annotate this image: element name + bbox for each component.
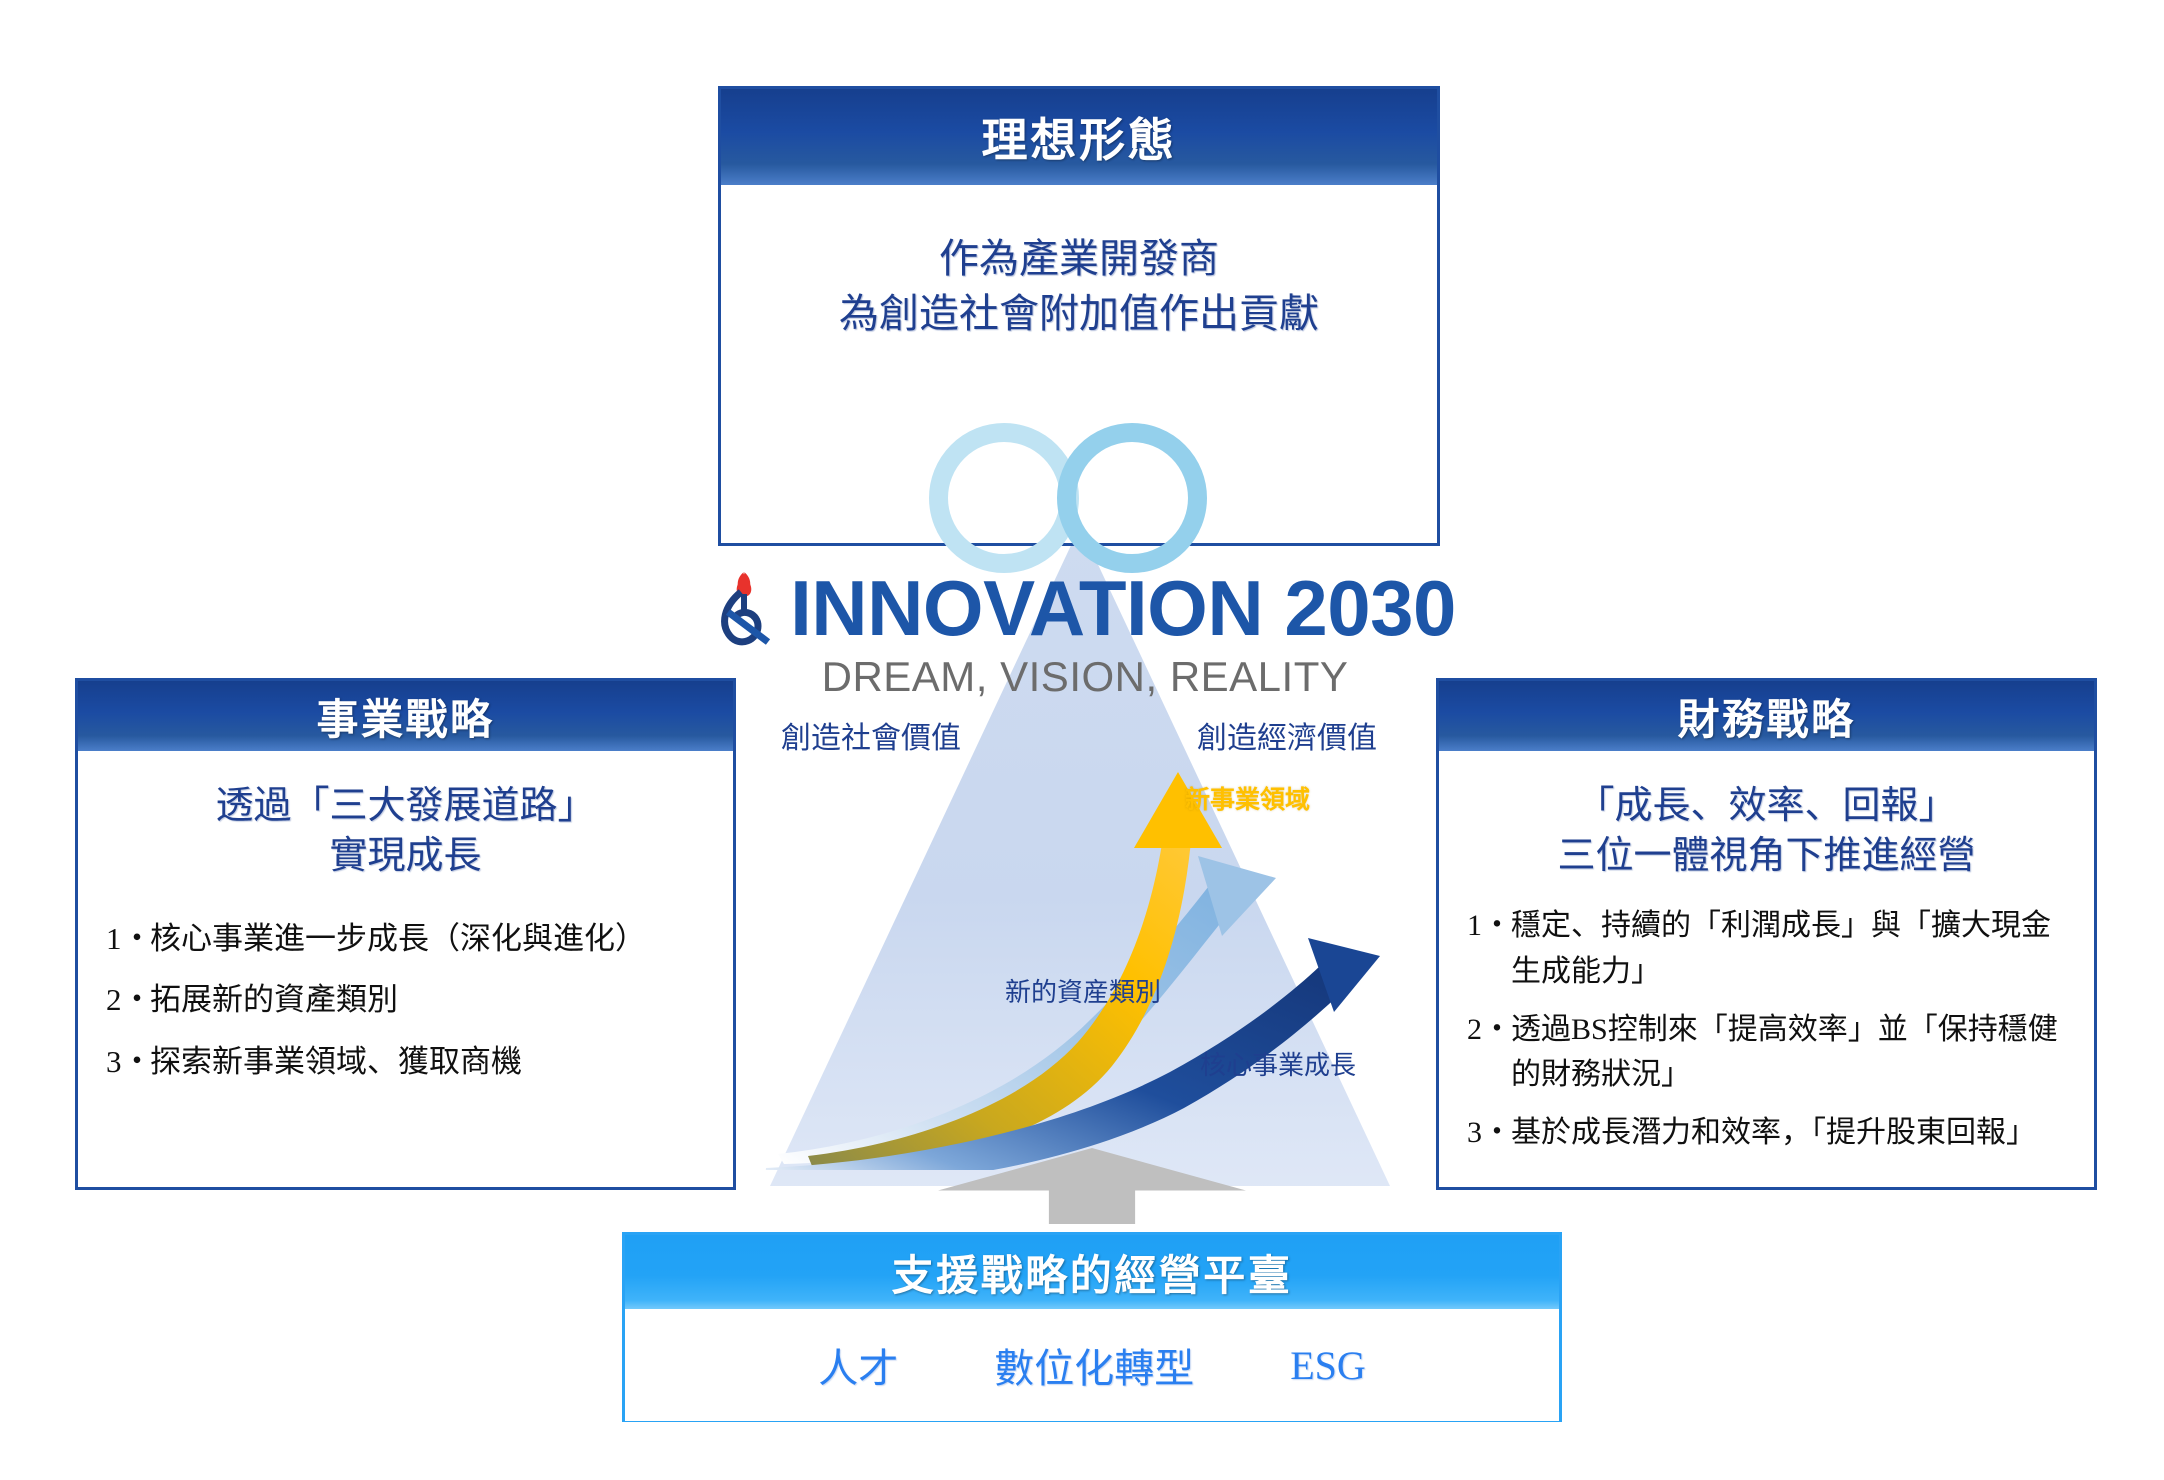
- business-subtitle-line-1: 透過「三大發展道路」: [78, 781, 733, 831]
- logo-main-text: INNOVATION 2030: [790, 565, 1456, 651]
- innovation-2030-logo: INNOVATION 2030 DREAM, VISION, REALITY: [690, 565, 1480, 695]
- bullet-number: 1・: [1467, 903, 1512, 949]
- bullet-text: 拓展新的資產類別: [150, 982, 398, 1017]
- business-bullet-list: 1・ 核心事業進一步成長（深化與進化） 2・ 拓展新的資產類別 3・ 探索新事業…: [78, 915, 733, 1084]
- financial-strategy-body: 「成長、效率、回報」 三位一體視角下推進經營 1・ 穩定、持續的「利潤成長」與「…: [1439, 751, 2094, 1187]
- ring-left-label: 創造社會價值: [781, 713, 961, 757]
- list-item: 1・ 穩定、持續的「利潤成長」與「擴大現金生成能力」: [1467, 903, 2078, 994]
- ideal-state-header: 理想形態: [721, 89, 1437, 185]
- logo-tagline: DREAM, VISION, REALITY: [690, 653, 1480, 701]
- bullet-number: 1・: [106, 915, 153, 962]
- financial-strategy-subtitle: 「成長、效率、回報」 三位一體視角下推進經營: [1439, 751, 2094, 881]
- bullet-text: 透過BS控制來「提高效率」並「保持穩健的財務狀況」: [1511, 1013, 2058, 1092]
- ideal-state-card: 理想形態 作為產業開發商 為創造社會附加值作出貢獻 創造社會價值 創造經濟價值: [718, 86, 1440, 546]
- business-strategy-card: 事業戰略 透過「三大發展道路」 實現成長 1・ 核心事業進一步成長（深化與進化）…: [75, 678, 736, 1190]
- bullet-number: 2・: [1467, 1007, 1512, 1053]
- infinity-rings-icon: 創造社會價值 創造經濟價值: [929, 423, 1229, 573]
- ideal-line-2: 為創造社會附加值作出貢獻: [721, 286, 1437, 341]
- business-subtitle-line-2: 實現成長: [78, 831, 733, 881]
- financial-bullet-list: 1・ 穩定、持續的「利潤成長」與「擴大現金生成能力」 2・ 透過BS控制來「提高…: [1439, 903, 2094, 1155]
- new-asset-class-arrow-label: 新的資産類別: [1005, 972, 1161, 1009]
- management-platform-header: 支援戰略的經營平臺: [625, 1235, 1559, 1309]
- platform-item-dx: 數位化轉型: [994, 1336, 1194, 1394]
- bullet-number: 2・: [106, 976, 153, 1023]
- business-strategy-body: 透過「三大發展道路」 實現成長 1・ 核心事業進一步成長（深化與進化） 2・ 拓…: [78, 751, 733, 1187]
- platform-item-talent: 人才: [818, 1336, 898, 1394]
- management-platform-body: 人才 數位化轉型 ESG: [625, 1309, 1559, 1421]
- list-item: 2・ 拓展新的資產類別: [106, 976, 717, 1023]
- ring-right-label: 創造經濟價值: [1197, 713, 1377, 757]
- list-item: 2・ 透過BS控制來「提高效率」並「保持穩健的財務狀況」: [1467, 1007, 2078, 1098]
- business-strategy-header: 事業戰略: [78, 681, 733, 751]
- financial-subtitle-line-1: 「成長、效率、回報」: [1439, 781, 2094, 831]
- bullet-number: 3・: [106, 1038, 153, 1085]
- financial-strategy-header: 財務戰略: [1439, 681, 2094, 751]
- ribbon-ampersand-icon: [714, 568, 780, 648]
- bullet-text: 探索新事業領域、獲取商機: [150, 1044, 522, 1079]
- ideal-state-body: 作為產業開發商 為創造社會附加值作出貢獻 創造社會價值 創造經濟價值: [721, 185, 1437, 543]
- bullet-text: 穩定、持續的「利潤成長」與「擴大現金生成能力」: [1511, 909, 2051, 988]
- growth-arrows-graphic: [760, 770, 1420, 1170]
- list-item: 3・ 基於成長潛力和效率，「提升股東回報」: [1467, 1110, 2078, 1156]
- ring-right-icon: [1057, 423, 1207, 573]
- list-item: 3・ 探索新事業領域、獲取商機: [106, 1038, 717, 1085]
- logo-wordmark: INNOVATION 2030: [690, 565, 1480, 651]
- financial-strategy-card: 財務戰略 「成長、效率、回報」 三位一體視角下推進經營 1・ 穩定、持續的「利潤…: [1436, 678, 2097, 1190]
- platform-item-esg: ESG: [1290, 1342, 1366, 1389]
- ideal-state-statement: 作為產業開發商 為創造社會附加值作出貢獻: [721, 231, 1437, 341]
- list-item: 1・ 核心事業進一步成長（深化與進化）: [106, 915, 717, 962]
- bullet-text: 基於成長潛力和效率，「提升股東回報」: [1511, 1116, 2036, 1149]
- business-strategy-subtitle: 透過「三大發展道路」 實現成長: [78, 751, 733, 881]
- bullet-number: 3・: [1467, 1110, 1512, 1156]
- core-business-arrow-label: 核心事業成長: [1200, 1045, 1356, 1082]
- bullet-text: 核心事業進一步成長（深化與進化）: [150, 921, 646, 956]
- management-platform-card: 支援戰略的經營平臺 人才 數位化轉型 ESG: [622, 1232, 1562, 1422]
- new-business-arrow-label: 新事業領域: [1185, 780, 1310, 816]
- ideal-line-1: 作為產業開發商: [721, 231, 1437, 286]
- diagram-canvas: 理想形態 作為產業開發商 為創造社會附加值作出貢獻 創造社會價值 創造經濟價值: [0, 0, 2164, 1480]
- ring-labels: 創造社會價值 創造經濟價值: [781, 713, 1377, 757]
- financial-subtitle-line-2: 三位一體視角下推進經營: [1439, 831, 2094, 881]
